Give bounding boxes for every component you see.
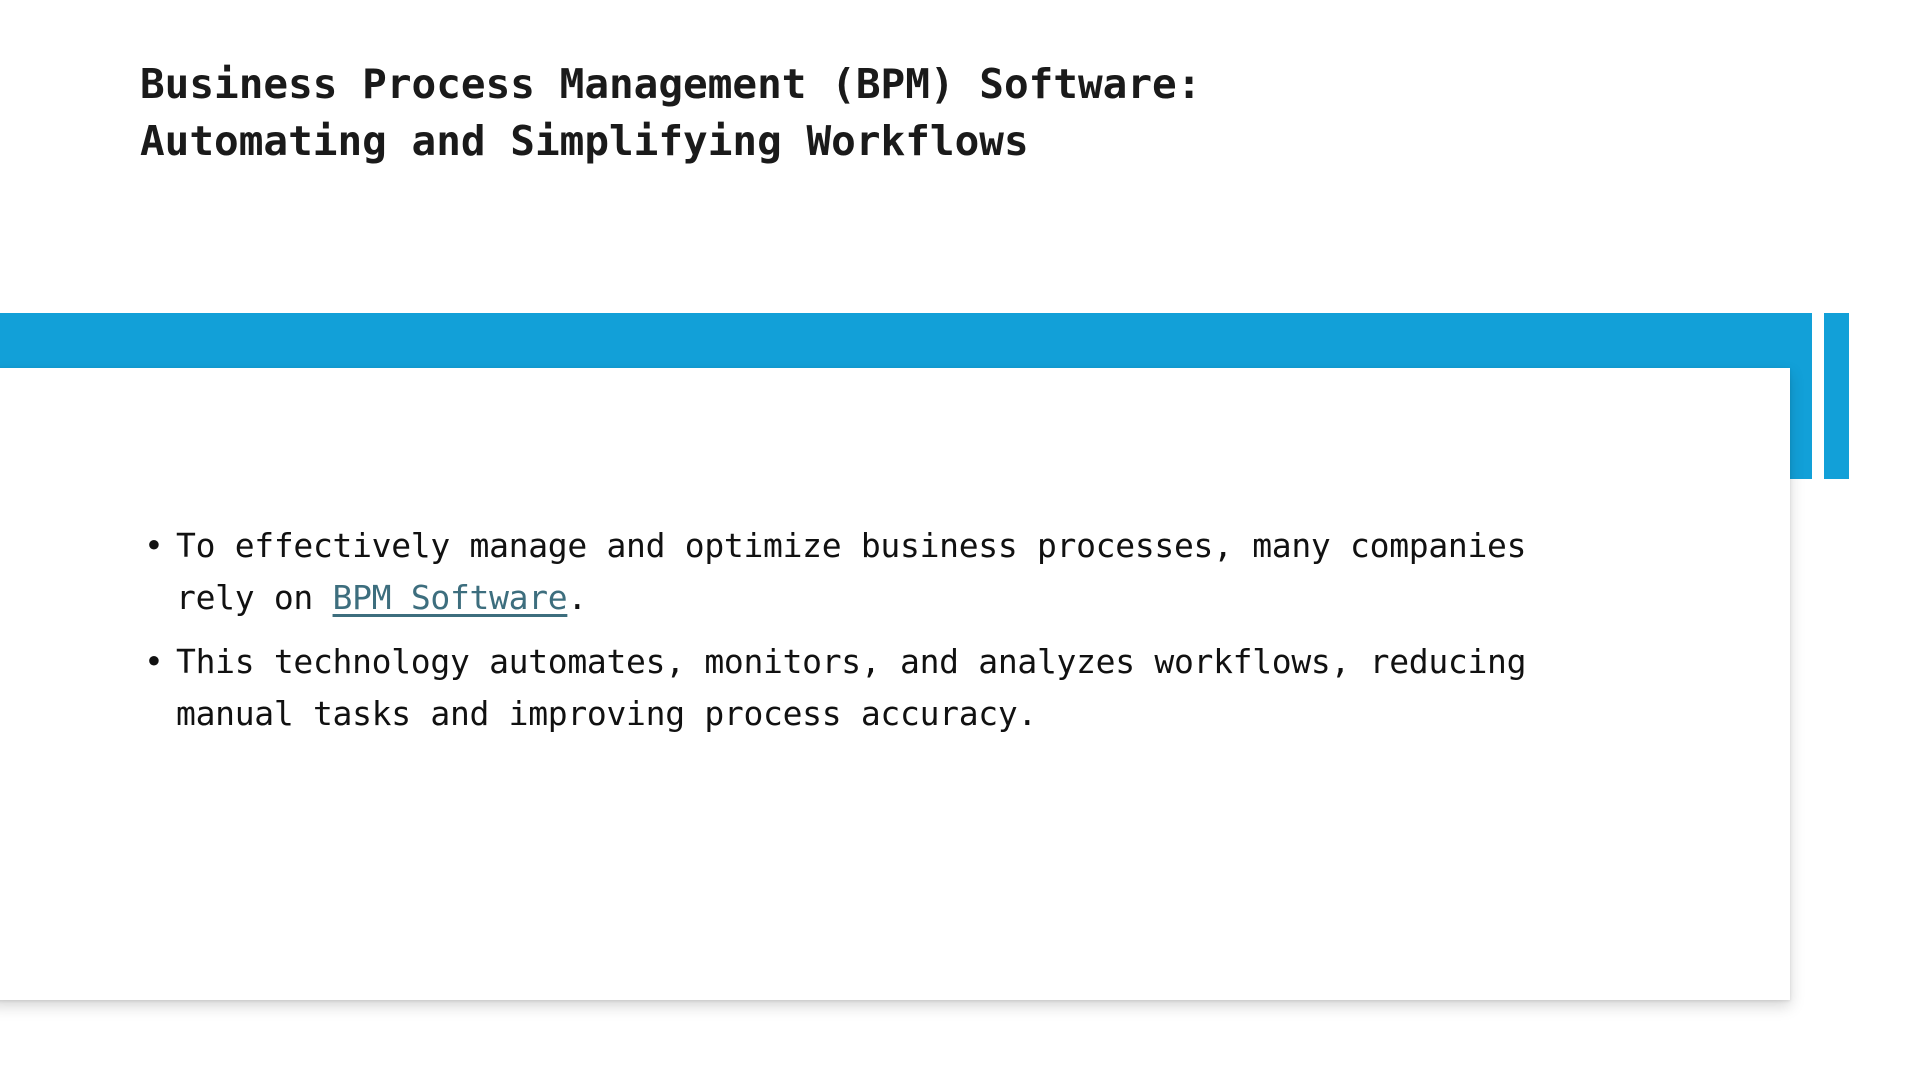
presentation-slide: Business Process Management (BPM) Softwa…	[0, 0, 1920, 1080]
slide-title-block: Business Process Management (BPM) Softwa…	[140, 56, 1640, 170]
content-card: •To effectively manage and optimize busi…	[0, 368, 1790, 1000]
bullet-text-after-link: .	[567, 578, 587, 617]
list-item: •This technology automates, monitors, an…	[138, 636, 1578, 740]
bullet-point-icon: •	[144, 520, 164, 572]
bullet-text-before-link: This technology automates, monitors, and…	[176, 642, 1526, 733]
list-item: •To effectively manage and optimize busi…	[138, 520, 1578, 624]
accent-bar-horizontal	[0, 313, 1812, 368]
page-title: Business Process Management (BPM) Softwa…	[140, 56, 1640, 170]
accent-bar-side-vertical	[1824, 313, 1849, 479]
accent-bar-corner-vertical	[1790, 313, 1812, 479]
bullet-point-icon: •	[144, 636, 164, 688]
bullet-list: •To effectively manage and optimize busi…	[138, 520, 1578, 740]
bpm-software-link[interactable]: BPM Software	[333, 578, 568, 617]
